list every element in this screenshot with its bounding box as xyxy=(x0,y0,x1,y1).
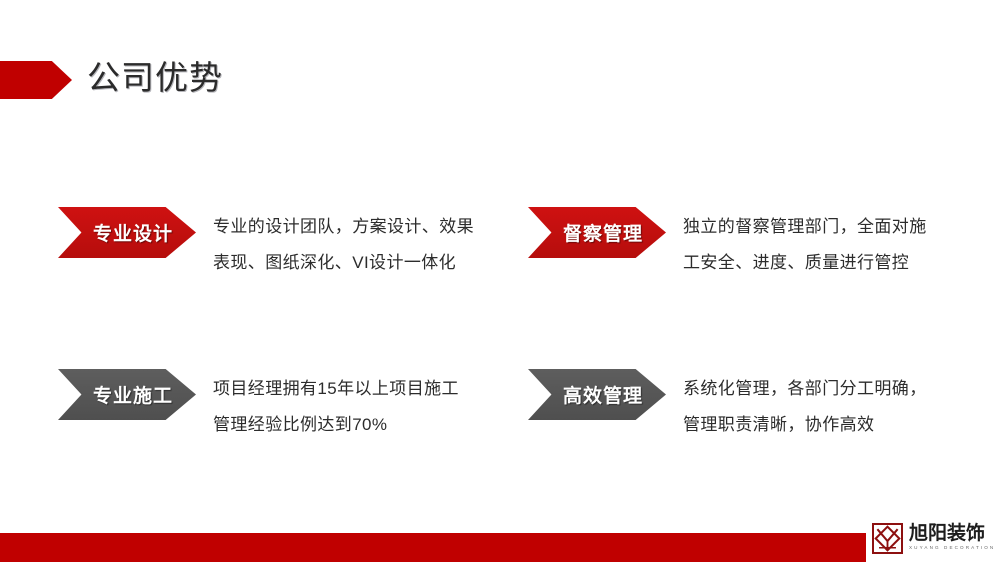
feature-block-3: 专业施工 项目经理拥有15年以上项目施工 管理经验比例达到70% xyxy=(58,369,459,443)
logo-diamond-mark-icon xyxy=(872,523,903,554)
logo-chinese-name: 旭阳装饰 xyxy=(909,524,995,544)
feature-description-line: 管理经验比例达到70% xyxy=(213,407,459,443)
feature-chevron-badge-4: 高效管理 xyxy=(528,369,666,420)
feature-description-line: 项目经理拥有15年以上项目施工 xyxy=(213,371,459,407)
company-logo: 旭阳装饰 XUYANG DECORATION xyxy=(872,520,984,556)
feature-description-line: 管理职责清晰，协作高效 xyxy=(683,407,927,443)
footer-red-bar xyxy=(0,533,866,562)
feature-label-1: 专业设计 xyxy=(93,219,173,246)
feature-description-line: 表现、图纸深化、VI设计一体化 xyxy=(213,245,474,281)
feature-chevron-badge-3: 专业施工 xyxy=(58,369,196,420)
logo-english-name: XUYANG DECORATION xyxy=(909,544,995,552)
feature-description-1: 专业的设计团队，方案设计、效果 表现、图纸深化、VI设计一体化 xyxy=(213,207,474,281)
feature-chevron-badge-2: 督察管理 xyxy=(528,207,666,258)
feature-chevron-badge-1: 专业设计 xyxy=(58,207,196,258)
feature-description-line: 工安全、进度、质量进行管控 xyxy=(683,245,927,281)
feature-description-line: 系统化管理，各部门分工明确， xyxy=(683,371,927,407)
feature-label-3: 专业施工 xyxy=(93,381,173,408)
feature-label-2: 督察管理 xyxy=(563,219,643,246)
title-arrow-marker-icon xyxy=(0,61,72,99)
logo-wordmark: 旭阳装饰 XUYANG DECORATION xyxy=(909,524,995,552)
slide-canvas: 公司优势 专业设计 专业的设计团队，方案设计、效果 表现、图纸深化、VI设计一体… xyxy=(0,0,1000,562)
feature-description-2: 独立的督察管理部门，全面对施 工安全、进度、质量进行管控 xyxy=(683,207,927,281)
feature-description-line: 独立的督察管理部门，全面对施 xyxy=(683,209,927,245)
feature-label-4: 高效管理 xyxy=(563,381,643,408)
feature-block-1: 专业设计 专业的设计团队，方案设计、效果 表现、图纸深化、VI设计一体化 xyxy=(58,207,474,281)
feature-description-3: 项目经理拥有15年以上项目施工 管理经验比例达到70% xyxy=(213,369,459,443)
page-title: 公司优势 xyxy=(87,55,223,101)
feature-description-4: 系统化管理，各部门分工明确， 管理职责清晰，协作高效 xyxy=(683,369,927,443)
feature-block-2: 督察管理 独立的督察管理部门，全面对施 工安全、进度、质量进行管控 xyxy=(528,207,927,281)
feature-description-line: 专业的设计团队，方案设计、效果 xyxy=(213,209,474,245)
feature-block-4: 高效管理 系统化管理，各部门分工明确， 管理职责清晰，协作高效 xyxy=(528,369,927,443)
